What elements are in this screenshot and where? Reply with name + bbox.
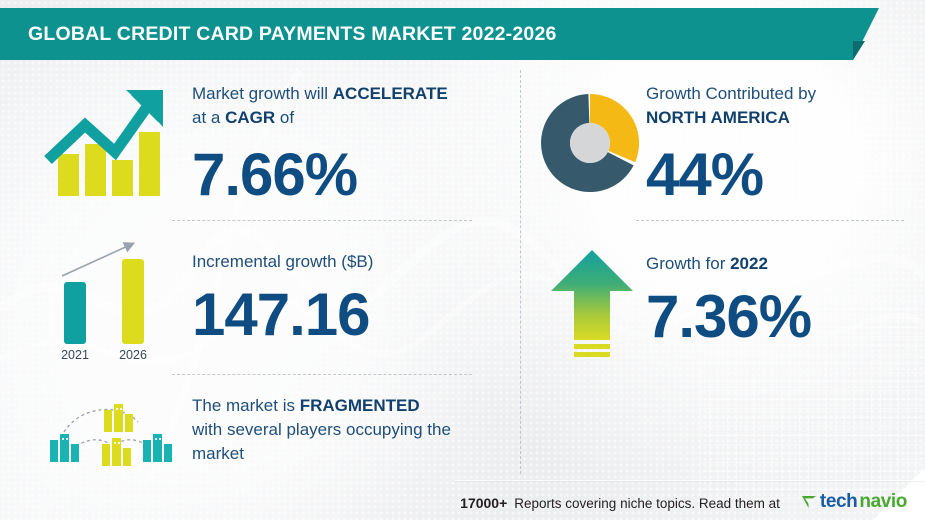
footer-divider xyxy=(455,480,925,481)
donut-chart-icon xyxy=(535,84,645,202)
region-line1: Growth Contributed by xyxy=(646,84,816,103)
city-teal-right xyxy=(143,434,172,462)
city-yellow-top xyxy=(104,404,133,432)
technavio-flag-icon xyxy=(801,493,818,510)
cagr-line2-bold: CAGR xyxy=(225,108,275,127)
header-fold-shadow xyxy=(853,41,865,60)
fragmented-statement: The market is FRAGMENTED with several pl… xyxy=(192,394,502,466)
region-text-block: Growth Contributed by NORTH AMERICA 44% xyxy=(646,82,916,206)
donut-center-hole xyxy=(570,123,610,163)
report-count: 17000+ xyxy=(460,495,507,511)
fragmented-line1-bold: FRAGMENTED xyxy=(300,396,420,415)
region-statement: Growth Contributed by NORTH AMERICA xyxy=(646,82,916,130)
bar-label-2026: 2026 xyxy=(119,348,147,362)
yearly-value: 7.36% xyxy=(646,286,916,348)
yearly-text-block: Growth for 2022 7.36% xyxy=(646,252,916,348)
technavio-logo[interactable]: technavio xyxy=(801,491,907,513)
fragmented-line1-plain: The market is xyxy=(192,396,300,415)
cagr-line1-plain: Market growth will xyxy=(192,84,333,103)
footer-tagline: Reports covering niche topics. Read them… xyxy=(514,496,780,511)
bar-2021 xyxy=(64,282,86,344)
divider-left-2 xyxy=(172,374,472,375)
region-line2-bold: NORTH AMERICA xyxy=(646,108,790,127)
fragmented-market-cities-icon xyxy=(30,388,180,474)
growth-arrow-chart-icon xyxy=(30,76,180,206)
two-bar-comparison-icon: 2021 2026 xyxy=(30,234,180,364)
incremental-label: Incremental growth ($B) xyxy=(192,250,492,274)
fragmented-line2: with several players occupying the xyxy=(192,420,451,439)
header-banner: GLOBAL CREDIT CARD PAYMENTS MARKET 2022-… xyxy=(0,8,853,60)
fragmented-line3: market xyxy=(192,444,244,463)
cagr-text-block: Market growth will ACCELERATE at a CAGR … xyxy=(192,82,492,206)
page-title: GLOBAL CREDIT CARD PAYMENTS MARKET 2022-… xyxy=(0,23,557,46)
yearly-label: Growth for 2022 xyxy=(646,252,916,276)
cagr-line2-tail: of xyxy=(275,108,294,127)
bar-2026 xyxy=(122,259,144,344)
footer-content: 17000+ Reports covering niche topics. Re… xyxy=(460,489,925,512)
footer-bar: 17000+ Reports covering niche topics. Re… xyxy=(0,480,925,520)
region-value: 44% xyxy=(646,144,916,206)
divider-right-1 xyxy=(636,220,904,221)
divider-vertical xyxy=(520,70,521,474)
bar-label-2021: 2021 xyxy=(61,348,89,362)
cagr-line2-plain: at a xyxy=(192,108,225,127)
cagr-line1-bold: ACCELERATE xyxy=(333,84,448,103)
cagr-statement: Market growth will ACCELERATE at a CAGR … xyxy=(192,82,492,130)
logo-text-tech: tech xyxy=(820,491,857,513)
incremental-value: 147.16 xyxy=(192,284,492,346)
trend-arrow xyxy=(62,245,130,276)
up-arrow-gradient-icon xyxy=(540,240,645,370)
arrow-stripe-1 xyxy=(574,344,610,349)
divider-left-1 xyxy=(172,220,472,221)
yearly-label-plain: Growth for xyxy=(646,254,730,273)
yearly-label-bold: 2022 xyxy=(730,254,768,273)
cagr-value: 7.66% xyxy=(192,144,492,206)
arrow-body xyxy=(551,250,633,340)
logo-text-navio: navio xyxy=(859,491,907,513)
city-teal-left xyxy=(50,434,79,462)
fragmented-text-block: The market is FRAGMENTED with several pl… xyxy=(192,394,502,466)
incremental-text-block: Incremental growth ($B) 147.16 xyxy=(192,250,492,346)
arrow-stripe-2 xyxy=(574,352,610,357)
content-area: Market growth will ACCELERATE at a CAGR … xyxy=(0,62,925,480)
